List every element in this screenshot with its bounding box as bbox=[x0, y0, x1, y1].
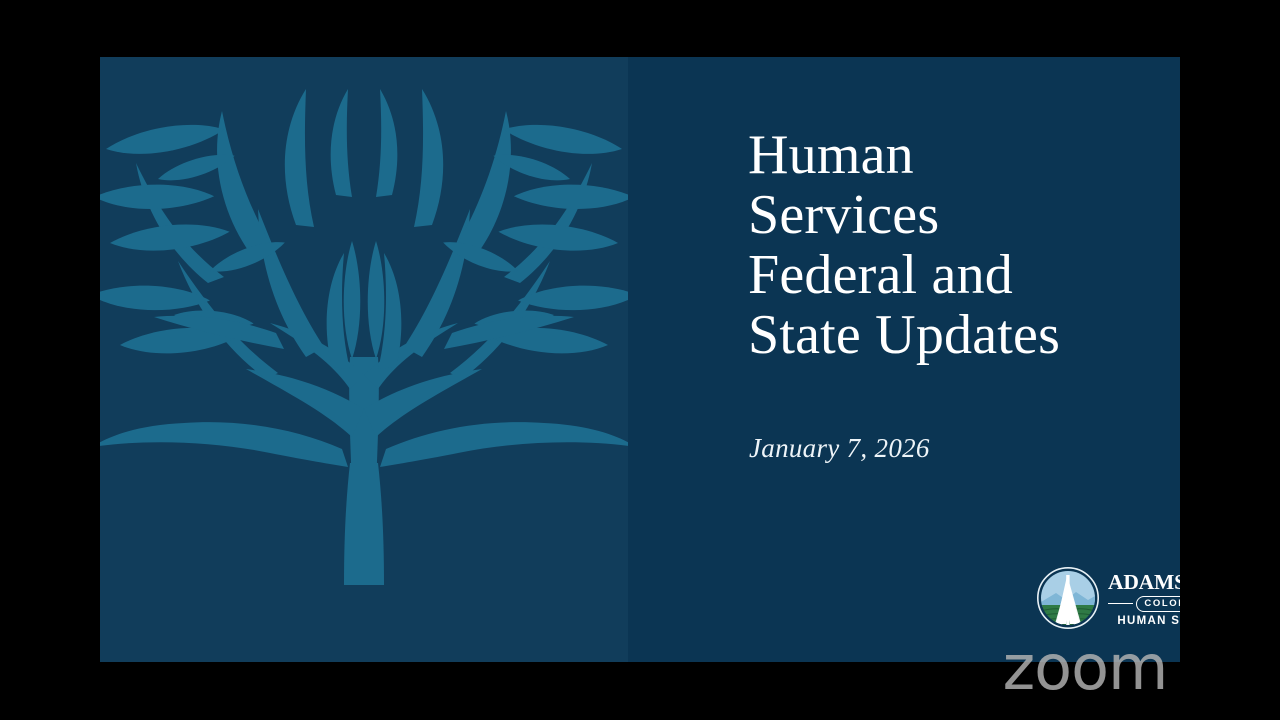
presentation-slide: Human Services Federal and State Updates… bbox=[100, 57, 1180, 662]
logo-rule-left bbox=[1108, 603, 1133, 605]
title-line-4: State Updates bbox=[748, 305, 1180, 365]
logo-state-row: COLORADO bbox=[1108, 596, 1180, 612]
logo-department-text: HUMAN SERVICES bbox=[1108, 615, 1180, 628]
zoom-meeting-screen: Human Services Federal and State Updates… bbox=[0, 0, 1280, 720]
tree-artwork-panel bbox=[100, 57, 628, 662]
presentation-date: January 7, 2026 bbox=[749, 432, 930, 464]
adams-county-logo: ADAMS COUNTY COLORADO HUMAN SERVICES bbox=[1036, 562, 1180, 634]
logo-wordmark: ADAMS COUNTY COLORADO HUMAN SERVICES bbox=[1108, 569, 1180, 628]
title-line-3: Federal and bbox=[748, 245, 1180, 305]
page-title: Human Services Federal and State Updates bbox=[748, 125, 1180, 365]
adams-county-badge-icon bbox=[1036, 566, 1100, 630]
mountain-field-emblem-icon bbox=[1036, 566, 1100, 630]
slide-content-panel: Human Services Federal and State Updates… bbox=[628, 57, 1180, 662]
title-line-1: Human bbox=[748, 125, 1180, 185]
title-line-2: Services bbox=[748, 185, 1180, 245]
tree-of-life-illustration bbox=[100, 57, 628, 662]
zoom-watermark: zoom bbox=[1003, 637, 1168, 699]
logo-state-text: COLORADO bbox=[1136, 596, 1180, 612]
logo-organization-text: ADAMS COUNTY bbox=[1108, 571, 1180, 593]
